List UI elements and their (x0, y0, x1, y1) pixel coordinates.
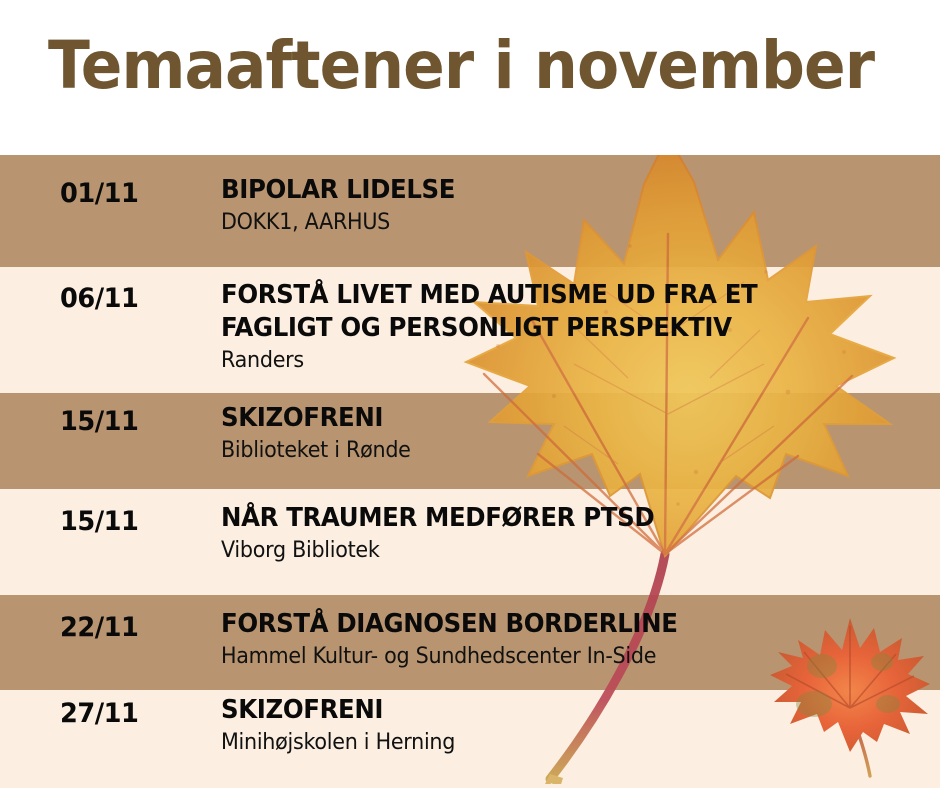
title-area: Temaaftener i november (0, 0, 940, 155)
event-date: 27/11 (60, 698, 138, 730)
event-date: 15/11 (60, 406, 138, 438)
event-body: BIPOLAR LIDELSEDOKK1, AARHUS (221, 174, 930, 237)
event-title: BIPOLAR LIDELSE (221, 174, 887, 207)
event-venue: Minihøjskolen i Herning (221, 728, 887, 757)
event-row[interactable]: 15/11NÅR TRAUMER MEDFØRER PTSDViborg Bib… (0, 489, 940, 595)
event-venue: Randers (221, 346, 887, 375)
event-date: 06/11 (60, 283, 138, 315)
event-body: SKIZOFRENIMinihøjskolen i Herning (221, 694, 930, 757)
event-date: 01/11 (60, 178, 138, 210)
event-row[interactable]: 06/11FORSTÅ LIVET MED AUTISME UD FRA ET … (0, 267, 940, 393)
poster-canvas: 01/11BIPOLAR LIDELSEDOKK1, AARHUS06/11FO… (0, 0, 940, 788)
event-venue: Viborg Bibliotek (221, 536, 887, 565)
event-body: SKIZOFRENIBiblioteket i Rønde (221, 402, 930, 465)
event-body: NÅR TRAUMER MEDFØRER PTSDViborg Bibliote… (221, 502, 930, 565)
event-date: 22/11 (60, 612, 138, 644)
page-title: Temaaftener i november (48, 26, 874, 106)
event-title: SKIZOFRENI (221, 402, 887, 435)
event-title: NÅR TRAUMER MEDFØRER PTSD (221, 502, 887, 535)
event-venue: Biblioteket i Rønde (221, 436, 887, 465)
event-venue: Hammel Kultur- og Sundhedscenter In-Side (221, 642, 887, 671)
event-title: FORSTÅ LIVET MED AUTISME UD FRA ET FAGLI… (221, 279, 887, 345)
event-title: FORSTÅ DIAGNOSEN BORDERLINE (221, 608, 887, 641)
event-title: SKIZOFRENI (221, 694, 887, 727)
event-row[interactable]: 01/11BIPOLAR LIDELSEDOKK1, AARHUS (0, 155, 940, 267)
event-row[interactable]: 22/11FORSTÅ DIAGNOSEN BORDERLINEHammel K… (0, 595, 940, 690)
event-body: FORSTÅ LIVET MED AUTISME UD FRA ET FAGLI… (221, 279, 930, 375)
event-body: FORSTÅ DIAGNOSEN BORDERLINEHammel Kultur… (221, 608, 930, 671)
event-row[interactable]: 15/11SKIZOFRENIBiblioteket i Rønde (0, 393, 940, 489)
event-date: 15/11 (60, 506, 138, 538)
event-venue: DOKK1, AARHUS (221, 208, 887, 237)
event-row[interactable]: 27/11SKIZOFRENIMinihøjskolen i Herning (0, 690, 940, 788)
